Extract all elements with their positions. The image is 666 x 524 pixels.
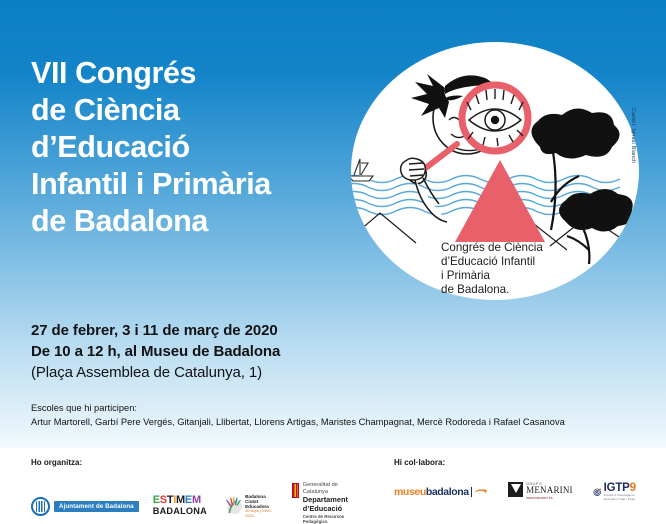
logo-ajuntament-badalona[interactable]: Ajuntament de Badalona: [31, 497, 139, 516]
igtp-text: IGTP9 Institut d’Investigació Germans Tr…: [604, 482, 642, 501]
estimem-badalona-label: BADALONA: [153, 507, 207, 516]
organizers-block: Ho organitza: Ajuntament de Badalona EST…: [31, 458, 82, 467]
event-time-place: De 10 a 12 h, al Museu de Badalona: [31, 341, 381, 362]
collaborator-logos: museu badalona GRUPO MENARINI www.menari…: [394, 482, 642, 501]
senyera-flag-icon: [292, 483, 299, 498]
title-line-4: Infantil i Primària: [31, 166, 361, 203]
estimem-wordmark: ESTIMEM: [153, 495, 207, 506]
generalitat-line1: Generalitat de Catalunya: [303, 482, 352, 495]
organizers-label: Ho organitza:: [31, 458, 82, 467]
logo-museu-badalona[interactable]: museu badalona: [394, 486, 489, 498]
menarini-url: www.menarini.es: [526, 497, 573, 501]
logo-generalitat-catalunya[interactable]: Generalitat de Catalunya Departament d’E…: [292, 482, 352, 524]
ciutat-educadora-text: Badalona Ciutat Educadora 30 anys | 1990…: [245, 494, 275, 519]
menarini-name: MENARINI: [526, 486, 573, 496]
event-details: 27 de febrer, 3 i 11 de març de 2020 De …: [31, 320, 381, 383]
event-dates: 27 de febrer, 3 i 11 de març de 2020: [31, 320, 381, 341]
badalona-word: badalona: [426, 486, 469, 498]
poster-canvas: Congrés de Ciència d’Educació Infantil i…: [0, 0, 666, 524]
museu-word: museu: [394, 486, 426, 498]
illustration-circle: Congrés de Ciència d’Educació Infantil i…: [345, 42, 645, 300]
artwork-credit: Cartell: Ignasi Blanch: [624, 108, 636, 218]
museu-divider: [471, 487, 472, 497]
footer: Ho organitza: Ajuntament de Badalona EST…: [0, 448, 666, 524]
illustration-caption-line1: Congrés de Ciència: [441, 241, 543, 254]
title-line-5: de Badalona: [31, 203, 361, 240]
illustration-caption-line2: d’Educació Infantil: [441, 255, 535, 268]
organizer-logos: Ajuntament de Badalona ESTIMEM BADALONA: [31, 482, 352, 524]
menarini-text: GRUPO MENARINI www.menarini.es: [526, 482, 573, 501]
schools-list: Artur Martorell, Garbí Pere Vergés, Gita…: [31, 416, 641, 430]
logo-ciutat-educadora[interactable]: Badalona Ciutat Educadora 30 anys | 1990…: [223, 493, 275, 519]
collaborators-block: Hi col·labora: museu badalona GRUPO MENA…: [394, 458, 445, 467]
logo-menarini[interactable]: GRUPO MENARINI www.menarini.es: [508, 482, 573, 501]
illustration-caption-line4: de Badalona.: [441, 283, 509, 296]
ajuntament-label-bar: Ajuntament de Badalona: [54, 501, 139, 512]
logo-igtp[interactable]: IGTP9 Institut d’Investigació Germans Tr…: [593, 482, 642, 501]
generalitat-line2: Departament d’Educació: [303, 496, 352, 514]
event-address: (Plaça Assemblea de Catalunya, 1): [31, 362, 381, 383]
page-title: VII Congrés de Ciència d’Educació Infant…: [31, 55, 361, 240]
igtp-subtitle: Institut d’Investigació Germans Trias i …: [604, 494, 642, 500]
ciutat-educadora-line3: 30 anys | 1990-2020: [245, 509, 275, 518]
collaborators-label: Hi col·labora:: [394, 458, 445, 467]
museu-swoosh-icon: [474, 486, 489, 497]
igtp-spiral-icon: [593, 485, 601, 499]
schools-heading: Escoles que hi participen:: [31, 402, 641, 416]
generalitat-text: Generalitat de Catalunya Departament d’E…: [303, 482, 352, 524]
participating-schools: Escoles que hi participen: Artur Martore…: [31, 402, 641, 429]
title-line-3: d’Educació: [31, 129, 361, 166]
generalitat-line3: Centre de Recursos Pedagògics: [303, 514, 352, 524]
illustration-caption-line3: i Primària: [441, 269, 491, 282]
title-line-1: VII Congrés: [31, 55, 361, 92]
menarini-mark-icon: [508, 482, 523, 497]
ajuntament-label: Ajuntament de Badalona: [59, 503, 134, 510]
badalona-crest-icon: [31, 497, 50, 516]
ciutat-educadora-icon: [223, 493, 243, 519]
logo-estimem-badalona[interactable]: ESTIMEM BADALONA: [153, 495, 207, 516]
title-line-2: de Ciència: [31, 92, 361, 129]
